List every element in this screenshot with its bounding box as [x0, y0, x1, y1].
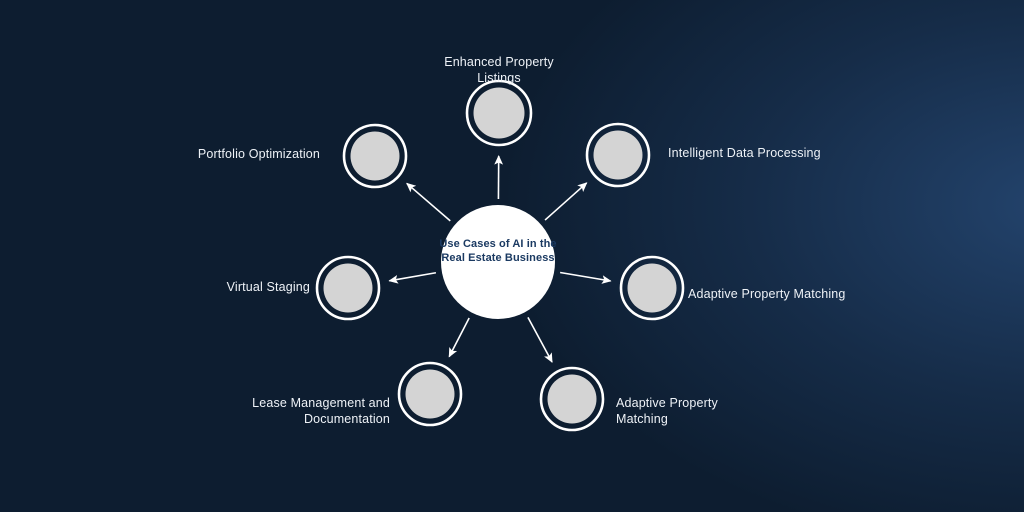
node-disc: [594, 131, 643, 180]
node-adaptive-property-matching-bottom[interactable]: [541, 368, 603, 430]
connector-arrow-adaptive-property-matching-bottom: [528, 317, 552, 362]
connector-arrow-adaptive-property-matching-right: [560, 272, 610, 281]
node-label-adaptive-property-matching-right: Adaptive Property Matching: [688, 287, 873, 303]
node-disc: [406, 370, 455, 419]
node-lease-management-and-documentation[interactable]: [399, 363, 461, 425]
node-disc: [628, 264, 677, 313]
node-enhanced-property-listings[interactable]: [467, 81, 531, 145]
connector-arrow-virtual-staging: [389, 273, 436, 281]
node-portfolio-optimization[interactable]: [344, 125, 406, 187]
node-disc: [324, 264, 373, 313]
node-label-lease-management-and-documentation: Lease Management and Documentation: [250, 396, 390, 427]
hub-label: Use Cases of AI in the Real Estate Busin…: [436, 237, 560, 265]
node-adaptive-property-matching-right[interactable]: [621, 257, 683, 319]
node-label-enhanced-property-listings: Enhanced Property Listings: [424, 55, 574, 86]
connector-arrow-intelligent-data-processing: [545, 183, 587, 220]
node-disc: [548, 375, 597, 424]
node-label-intelligent-data-processing: Intelligent Data Processing: [668, 146, 848, 162]
node-disc: [474, 88, 525, 139]
node-label-adaptive-property-matching-bottom: Adaptive Property Matching: [616, 396, 746, 427]
node-label-portfolio-optimization: Portfolio Optimization: [150, 147, 320, 163]
connector-arrow-lease-management-and-documentation: [449, 318, 469, 357]
node-label-virtual-staging: Virtual Staging: [160, 280, 310, 296]
connector-arrow-portfolio-optimization: [407, 183, 450, 220]
diagram-canvas: Enhanced Property ListingsIntelligent Da…: [0, 0, 1024, 512]
node-intelligent-data-processing[interactable]: [587, 124, 649, 186]
node-virtual-staging[interactable]: [317, 257, 379, 319]
node-disc: [351, 132, 400, 181]
